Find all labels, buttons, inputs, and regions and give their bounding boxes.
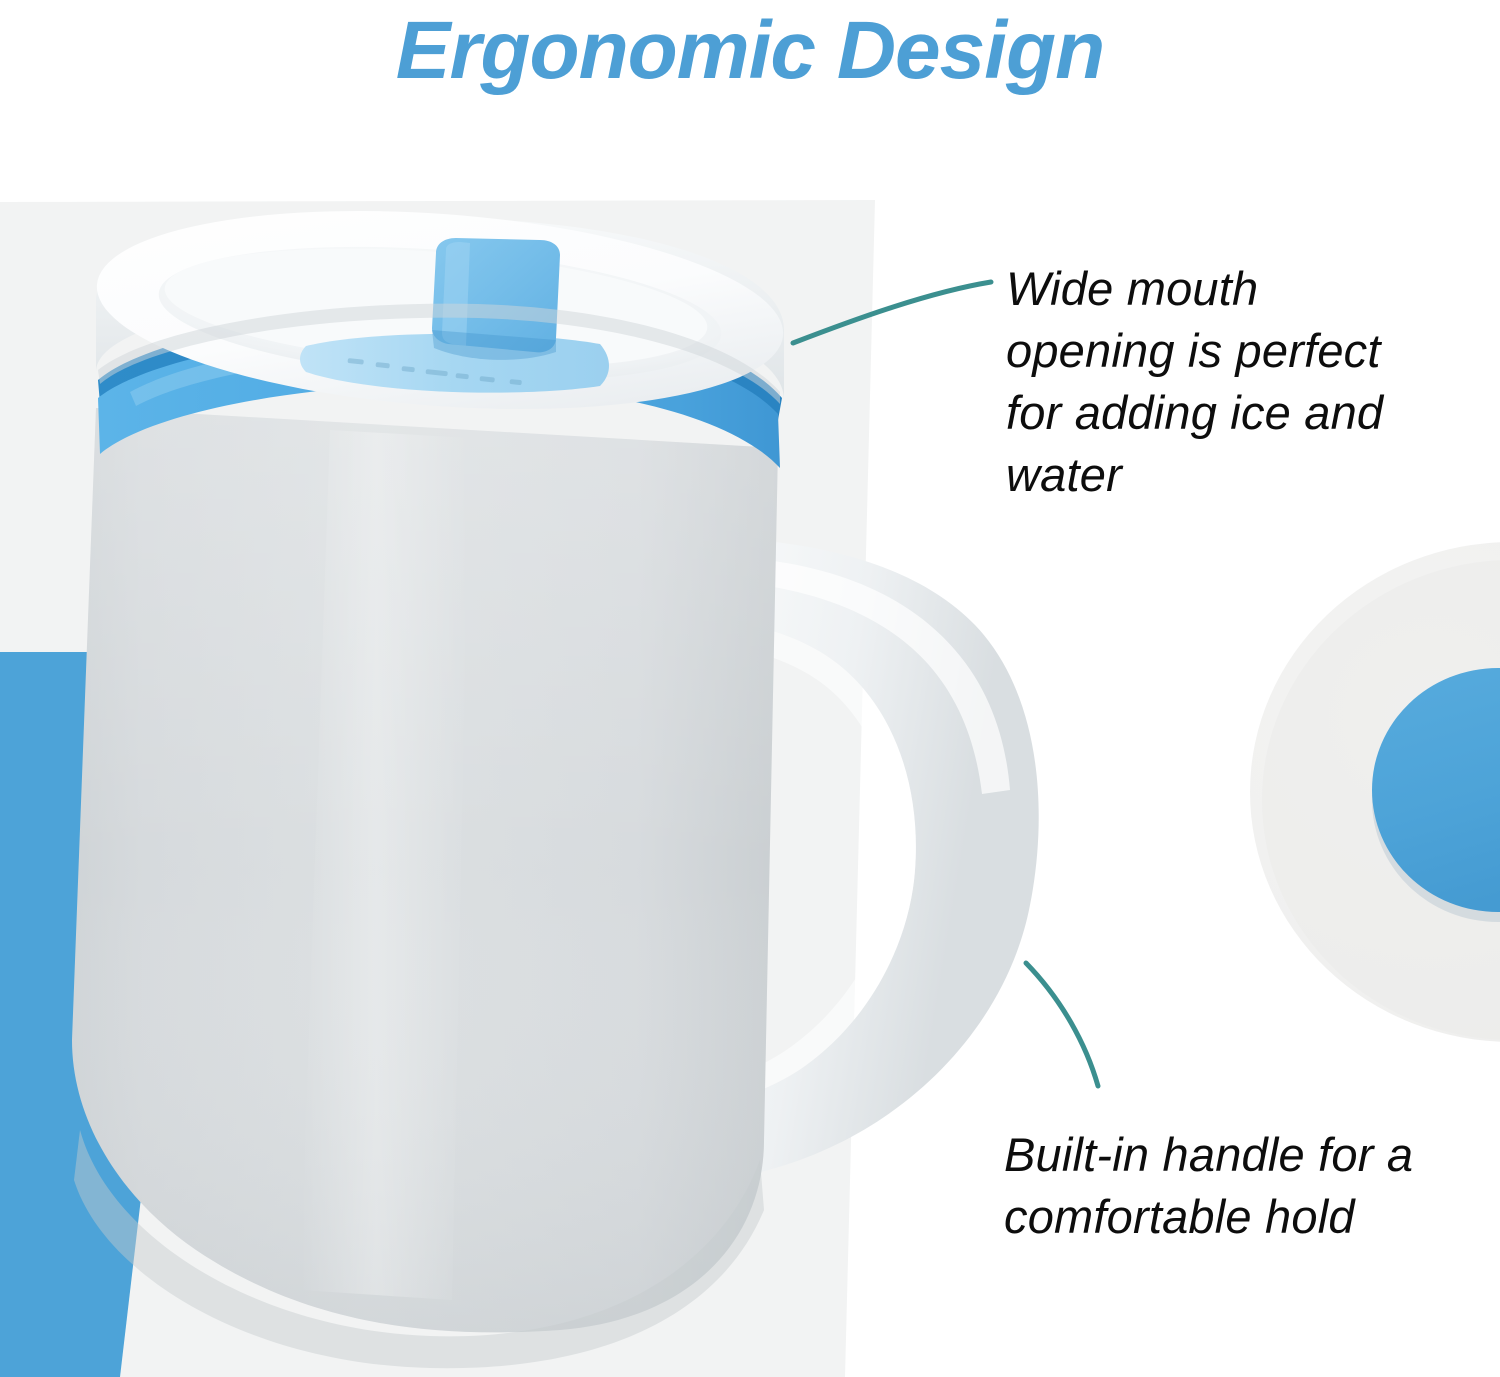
callout-wide-mouth-text: Wide mouth opening is perfect for adding… <box>1006 258 1426 506</box>
infographic-canvas: Ergonomic Design Wide mouth opening is p… <box>0 0 1500 1377</box>
mug-body-highlight <box>300 430 470 1300</box>
lid-slider-tab-highlight <box>442 242 470 346</box>
mug-body-group <box>72 408 778 1368</box>
mug-group <box>72 189 1039 1368</box>
leader-line-built-in-handle <box>1026 963 1098 1086</box>
callout-built-in-handle-text: Built-in handle for a comfortable hold <box>1004 1124 1424 1248</box>
lid-slider-tab <box>432 238 560 360</box>
page-title: Ergonomic Design <box>0 0 1500 106</box>
secondary-product-group <box>1250 542 1500 1042</box>
